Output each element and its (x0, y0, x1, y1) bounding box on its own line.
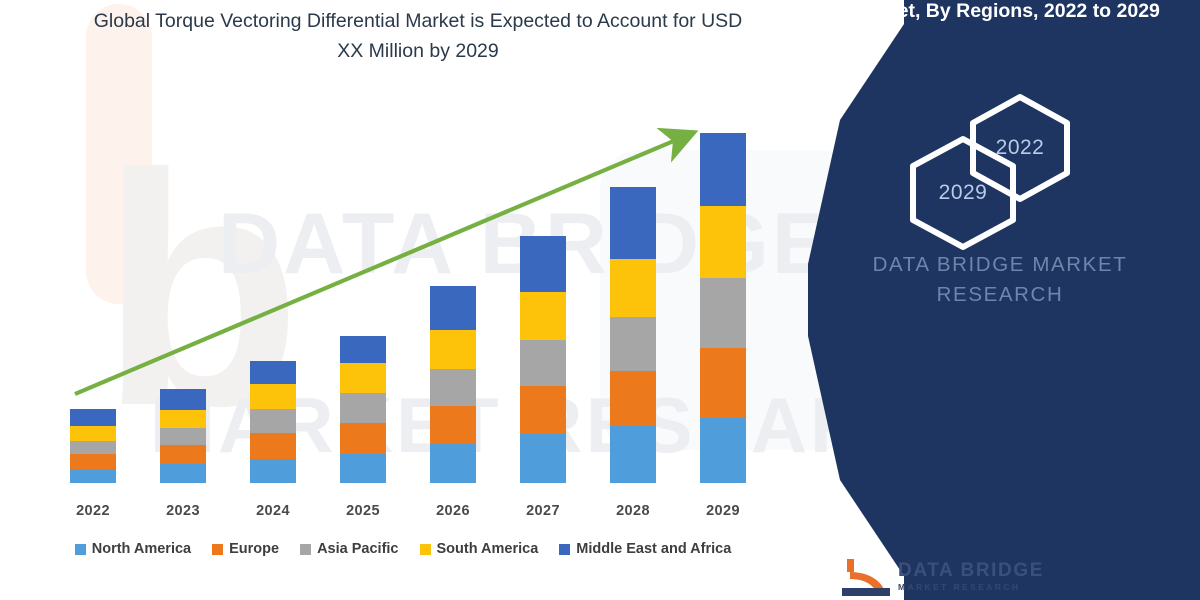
bar-segment-2022-north-america (70, 469, 116, 483)
legend-item-asia-pacific[interactable]: Asia Pacific (300, 541, 398, 557)
bar-segment-2022-asia-pacific (70, 441, 116, 454)
company-logo: DATA BRIDGE MARKET RESEARCH (840, 556, 1070, 600)
bar-segment-2024-middle-east-and-africa (250, 361, 296, 384)
bar-segment-2028-europe (610, 371, 656, 426)
legend-item-north-america[interactable]: North America (75, 541, 191, 557)
bar-2028 (610, 187, 656, 483)
legend-label: Asia Pacific (317, 541, 398, 557)
bar-2022 (70, 409, 116, 483)
bar-segment-2023-middle-east-and-africa (160, 389, 206, 410)
bar-2023 (160, 389, 206, 483)
bar-segment-2023-asia-pacific (160, 428, 206, 445)
infographic-canvas: b DATA BRIDGE MARKET RESEARCH Global Tor… (0, 0, 1200, 600)
bar-segment-2029-asia-pacific (700, 278, 746, 348)
bar-segment-2024-europe (250, 433, 296, 459)
bar-2029 (700, 133, 746, 483)
bar-segment-2028-middle-east-and-africa (610, 187, 656, 259)
bar-segment-2029-south-america (700, 206, 746, 278)
bar-2024 (250, 361, 296, 483)
bar-2027 (520, 236, 566, 483)
legend-item-europe[interactable]: Europe (212, 541, 279, 557)
bar-segment-2028-north-america (610, 426, 656, 483)
bar-segment-2029-middle-east-and-africa (700, 133, 746, 206)
bar-segment-2027-north-america (520, 434, 566, 483)
legend-label: South America (437, 541, 539, 557)
bar-segment-2022-middle-east-and-africa (70, 409, 116, 426)
bar-segment-2029-north-america (700, 418, 746, 483)
legend-item-middle-east-and-africa[interactable]: Middle East and Africa (559, 541, 731, 557)
bar-segment-2025-asia-pacific (340, 393, 386, 423)
legend-swatch-icon (212, 544, 223, 555)
bar-segment-2026-south-america (430, 330, 476, 369)
bar-2026 (430, 286, 476, 483)
bar-2025 (340, 336, 386, 483)
panel-title: Market, By Regions, 2022 to 2029 (820, 0, 1192, 23)
brand-line-2: RESEARCH (800, 280, 1200, 310)
bridge-icon (840, 556, 892, 598)
bar-segment-2025-north-america (340, 454, 386, 483)
bar-segment-2029-europe (700, 348, 746, 418)
legend-swatch-icon (300, 544, 311, 555)
bar-segment-2026-north-america (430, 444, 476, 483)
bar-segment-2024-asia-pacific (250, 409, 296, 433)
legend-swatch-icon (75, 544, 86, 555)
legend-label: North America (92, 541, 191, 557)
x-tick-2027: 2027 (498, 503, 588, 519)
bar-segment-2023-south-america (160, 410, 206, 428)
x-tick-2029: 2029 (678, 503, 768, 519)
legend-label: Middle East and Africa (576, 541, 731, 557)
x-tick-2025: 2025 (318, 503, 408, 519)
bar-segment-2025-south-america (340, 363, 386, 393)
x-tick-2023: 2023 (138, 503, 228, 519)
legend-label: Europe (229, 541, 279, 557)
x-tick-2026: 2026 (408, 503, 498, 519)
bar-segment-2027-south-america (520, 292, 566, 340)
chart-legend: North AmericaEuropeAsia PacificSouth Ame… (0, 541, 806, 557)
hexagon-2029-label: 2029 (905, 134, 1021, 252)
x-tick-2024: 2024 (228, 503, 318, 519)
bar-segment-2025-europe (340, 423, 386, 454)
bar-segment-2027-europe (520, 386, 566, 434)
bar-segment-2024-north-america (250, 459, 296, 483)
legend-swatch-icon (420, 544, 431, 555)
legend-item-south-america[interactable]: South America (420, 541, 539, 557)
right-panel: Market, By Regions, 2022 to 2029 2022 20… (800, 0, 1200, 600)
brand-line-1: DATA BRIDGE MARKET (800, 250, 1200, 280)
x-tick-2022: 2022 (48, 503, 138, 519)
bar-segment-2028-south-america (610, 259, 656, 317)
bar-segment-2022-south-america (70, 426, 116, 441)
bar-segment-2026-middle-east-and-africa (430, 286, 476, 330)
logo-wordmark: DATA BRIDGE (898, 560, 1044, 582)
hexagon-group: 2022 2029 (800, 86, 1200, 226)
bar-segment-2022-europe (70, 454, 116, 469)
bar-segment-2025-middle-east-and-africa (340, 336, 386, 363)
bar-segment-2026-europe (430, 406, 476, 444)
stacked-bar-chart: 20222023202420252026202720282029 North A… (0, 0, 820, 600)
bar-segment-2027-asia-pacific (520, 340, 566, 386)
legend-swatch-icon (559, 544, 570, 555)
bar-segment-2024-south-america (250, 384, 296, 409)
hexagon-2029: 2029 (905, 134, 1021, 252)
bar-segment-2026-asia-pacific (430, 369, 476, 406)
bar-segment-2027-middle-east-and-africa (520, 236, 566, 292)
x-tick-2028: 2028 (588, 503, 678, 519)
brand-wordmark: DATA BRIDGE MARKET RESEARCH (800, 250, 1200, 310)
bar-segment-2028-asia-pacific (610, 317, 656, 371)
bar-segment-2023-north-america (160, 464, 206, 483)
logo-tagline: MARKET RESEARCH (898, 582, 1020, 592)
bar-segment-2023-europe (160, 445, 206, 464)
right-panel-content: Market, By Regions, 2022 to 2029 2022 20… (800, 0, 1200, 600)
